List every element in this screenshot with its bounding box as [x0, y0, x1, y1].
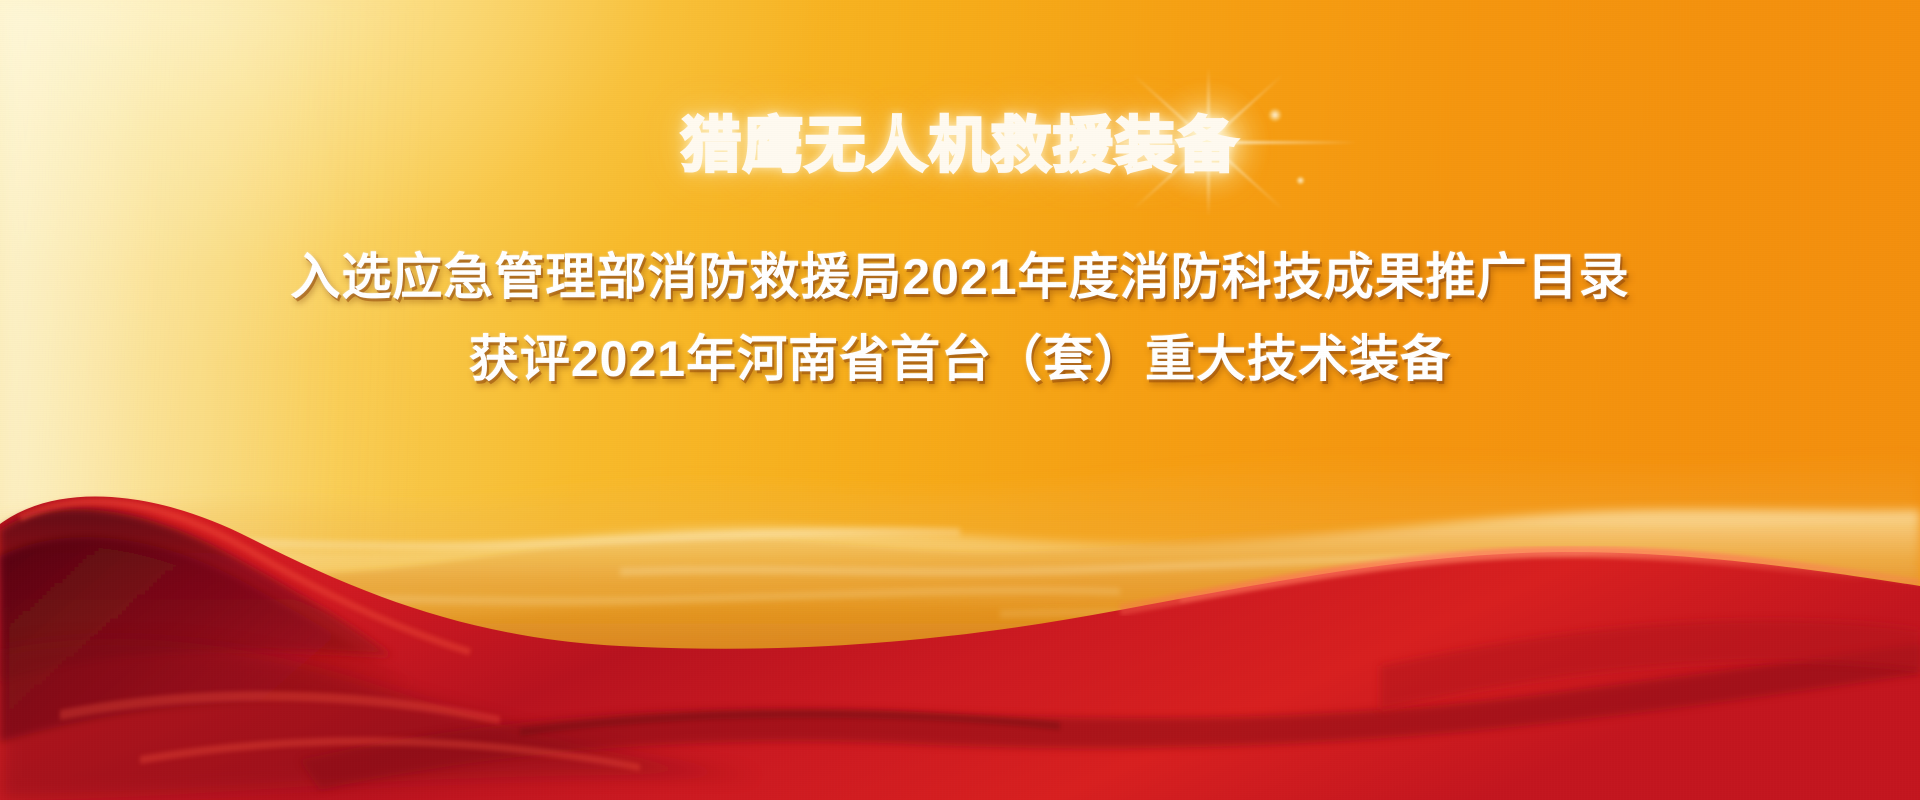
- banner-subline-one: 入选应急管理部消防救援局2021年度消防科技成果推广目录: [0, 252, 1920, 302]
- banner-subline-two: 获评2021年河南省首台（套）重大技术装备: [0, 334, 1920, 384]
- banner-headline: 猎鹰无人机救援装备: [0, 116, 1920, 176]
- red-silk-ribbon-wave: [0, 460, 1920, 800]
- sun-flare-spark-b: [1296, 176, 1305, 185]
- promo-banner: 猎鹰无人机救援装备 入选应急管理部消防救援局2021年度消防科技成果推广目录 获…: [0, 0, 1920, 800]
